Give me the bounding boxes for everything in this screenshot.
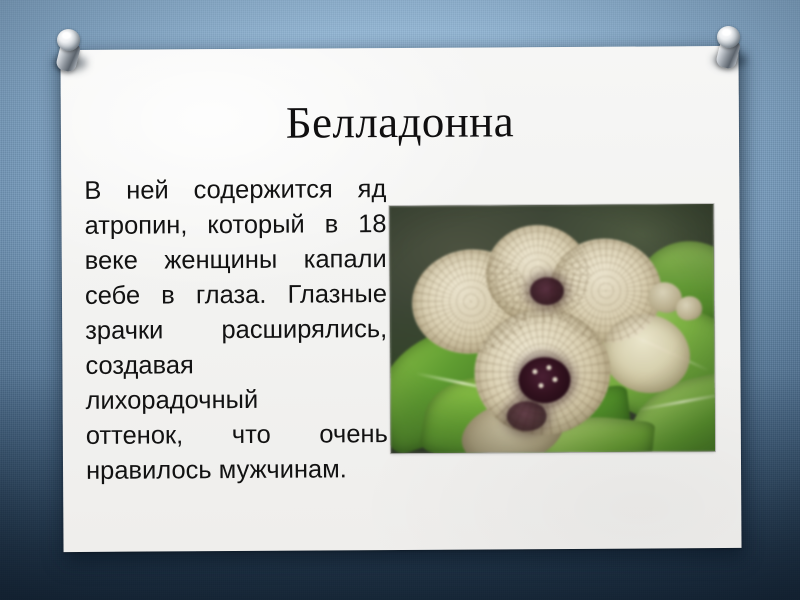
body-line: веке женщины капали [85,242,387,279]
paper-sheet: Белладонна В ней содержится яд атропин, … [60,46,741,552]
page-title: Белладонна [61,98,739,147]
body-line: зрачки расширялись, [85,312,387,349]
pin-highlight [722,29,731,36]
body-paragraph: В ней содержится яд атропин, который в 1… [84,172,388,489]
body-line: оттенок, что очень [86,417,388,454]
body-line: атропин, который в 18 [84,207,386,244]
photo-depth-blur [389,204,715,453]
pushpin-right-icon [707,24,753,76]
pin-highlight [62,32,71,39]
body-line: лихорадочный [86,382,388,419]
slide-canvas: Белладонна В ней содержится яд атропин, … [0,0,800,600]
body-line: создавая [85,347,387,384]
body-line: себе в глаза. Глазные [85,277,387,314]
pushpin-left-icon [47,27,93,79]
body-line: В ней содержится яд [84,172,386,209]
body-line: нравилось мужчинам. [86,452,388,489]
henbane-flower-photo [389,204,715,453]
